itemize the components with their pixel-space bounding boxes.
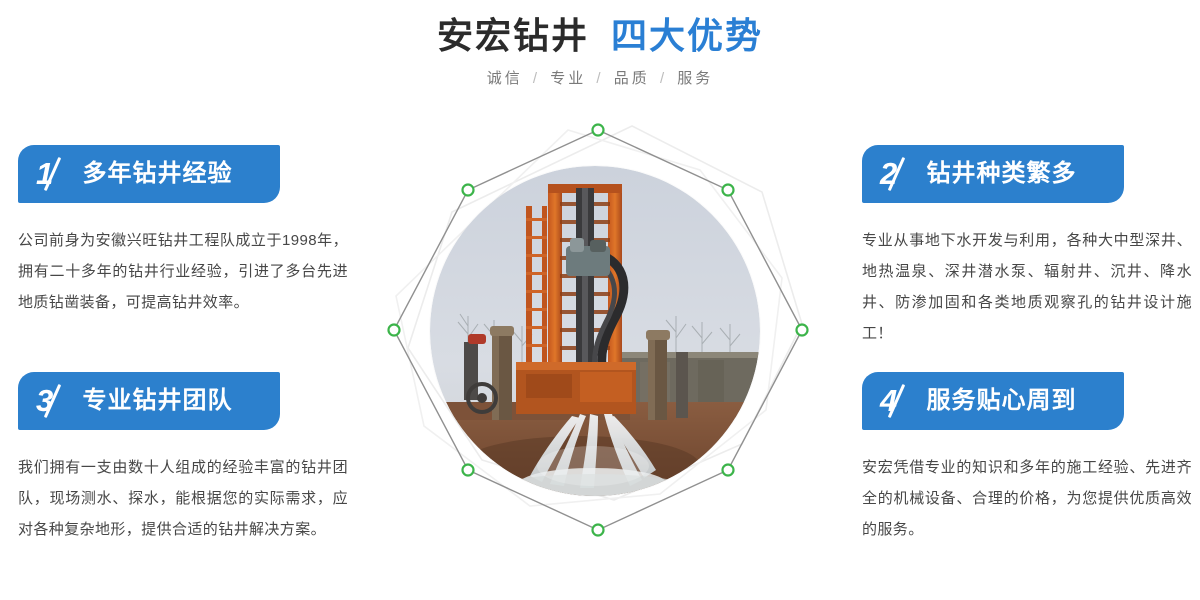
ring-node-bottom (593, 525, 604, 536)
feature-card-2-number-icon: 2 (878, 145, 920, 203)
ring-node-top-left (463, 185, 474, 196)
feature-card-2-body: 专业从事地下水开发与利用，各种大中型深井、地热温泉、深井潜水泵、辐射井、沉井、降… (862, 203, 1192, 349)
page-subtitle: 诚信 / 专业 / 品质 / 服务 (0, 58, 1200, 90)
feature-card-1-number-icon: 1 (34, 145, 76, 203)
ring-node-left (389, 325, 400, 336)
ring-node-bottom-right (723, 465, 734, 476)
feature-card-3-badge: 3 专业钻井团队 (18, 372, 280, 430)
feature-card-3-number-icon: 3 (34, 372, 76, 430)
page-title-accent: 四大优势 (611, 15, 763, 56)
feature-card-4-number-icon: 4 (878, 372, 920, 430)
feature-card-3-body: 我们拥有一支由数十人组成的经验丰富的钻井团队，现场测水、探水，能根据您的实际需求… (18, 430, 348, 545)
feature-card-3-title: 专业钻井团队 (82, 372, 232, 430)
drilling-rig-photo (430, 166, 760, 496)
feature-card-2-badge: 2 钻井种类繁多 (862, 145, 1124, 203)
feature-card-3[interactable]: 3 专业钻井团队 我们拥有一支由数十人组成的经验丰富的钻井团队，现场测水、探水，… (18, 372, 348, 545)
ring-node-bottom-left (463, 465, 474, 476)
feature-card-4-body: 安宏凭借专业的知识和多年的施工经验、先进齐全的机械设备、合理的价格，为您提供优质… (862, 430, 1192, 545)
subtitle-item-0: 诚信 (487, 70, 523, 87)
page-title: 安宏钻井四大优势 (0, 0, 1200, 58)
subtitle-separator-1: / (596, 70, 603, 87)
feature-card-1-body: 公司前身为安徽兴旺钻井工程队成立于1998年，拥有二十多年的钻井行业经验，引进了… (18, 203, 348, 318)
feature-card-1[interactable]: 1 多年钻井经验 公司前身为安徽兴旺钻井工程队成立于1998年，拥有二十多年的钻… (18, 145, 348, 318)
page-header: 安宏钻井四大优势 诚信 / 专业 / 品质 / 服务 (0, 0, 1200, 110)
feature-card-4-badge: 4 服务贴心周到 (862, 372, 1124, 430)
subtitle-item-3: 服务 (677, 70, 713, 87)
ring-node-top (593, 125, 604, 136)
subtitle-item-1: 专业 (550, 70, 586, 87)
subtitle-separator-2: / (660, 70, 667, 87)
feature-card-4-title: 服务贴心周到 (926, 372, 1076, 430)
subtitle-item-2: 品质 (614, 70, 650, 87)
feature-card-1-title: 多年钻井经验 (82, 145, 232, 203)
subtitle-separator-0: / (533, 70, 540, 87)
ring-node-top-right (723, 185, 734, 196)
feature-card-2[interactable]: 2 钻井种类繁多 专业从事地下水开发与利用，各种大中型深井、地热温泉、深井潜水泵… (862, 145, 1192, 349)
center-stage (370, 108, 830, 578)
feature-card-1-badge: 1 多年钻井经验 (18, 145, 280, 203)
feature-card-2-title: 钻井种类繁多 (926, 145, 1076, 203)
page-title-main: 安宏钻井 (437, 15, 589, 56)
feature-card-4[interactable]: 4 服务贴心周到 安宏凭借专业的知识和多年的施工经验、先进齐全的机械设备、合理的… (862, 372, 1192, 545)
drilling-rig-illustration (430, 166, 760, 496)
ring-node-right (797, 325, 808, 336)
